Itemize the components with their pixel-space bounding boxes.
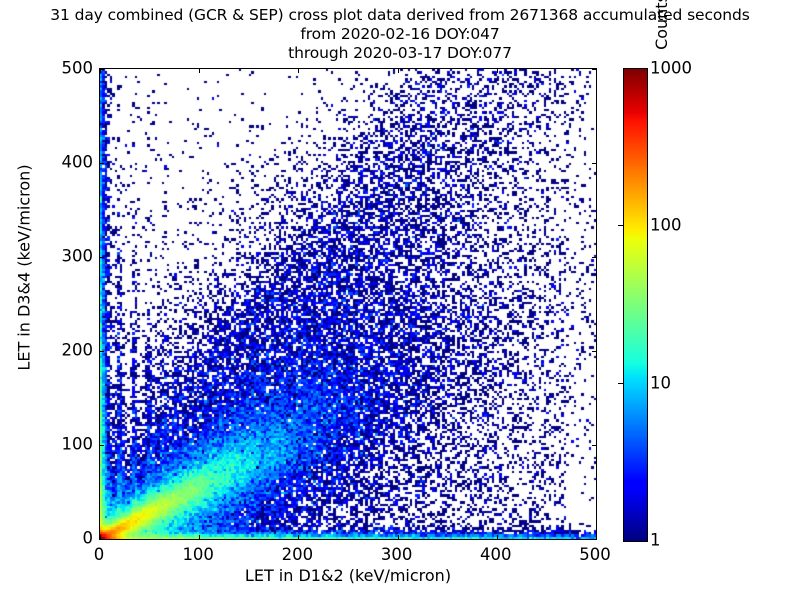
x-tick-label: 100: [163, 545, 233, 564]
x-tick-mark: [497, 69, 498, 73]
y-tick-mark: [592, 351, 596, 352]
y-tick-mark: [100, 163, 104, 164]
y-tick-label: 200: [33, 341, 93, 360]
x-tick-mark: [298, 69, 299, 73]
figure-canvas: 31 day combined (GCR & SEP) cross plot d…: [0, 0, 800, 600]
y-tick-mark: [100, 539, 104, 540]
x-tick-mark: [398, 535, 399, 539]
title-line-1: 31 day combined (GCR & SEP) cross plot d…: [0, 6, 800, 25]
chart-title: 31 day combined (GCR & SEP) cross plot d…: [0, 6, 800, 63]
x-axis-label: LET in D1&2 (keV/micron): [99, 566, 597, 585]
y-tick-mark: [592, 163, 596, 164]
x-tick-mark: [100, 69, 101, 73]
colorbar-gradient: [623, 68, 648, 542]
plot-axes: [99, 68, 597, 540]
y-tick-label: 100: [33, 435, 93, 454]
x-tick-mark: [596, 535, 597, 539]
x-tick-mark: [398, 69, 399, 73]
y-tick-label: 500: [33, 59, 93, 78]
x-tick-mark: [199, 535, 200, 539]
y-tick-mark: [100, 445, 104, 446]
y-tick-mark: [100, 351, 104, 352]
y-tick-label: 300: [33, 247, 93, 266]
x-tick-mark: [596, 69, 597, 73]
x-tick-mark: [497, 535, 498, 539]
x-tick-mark: [298, 535, 299, 539]
x-tick-label: 200: [262, 545, 332, 564]
y-tick-mark: [100, 257, 104, 258]
density-plot-area: [100, 69, 596, 539]
colorbar-label: Counts: [652, 0, 671, 258]
x-tick-label: 500: [560, 545, 630, 564]
y-tick-mark: [592, 257, 596, 258]
x-tick-mark: [100, 535, 101, 539]
title-line-2: from 2020-02-16 DOY:047: [0, 25, 800, 44]
y-axis-label: LET in D3&4 (keV/micron): [15, 32, 34, 504]
x-tick-label: 0: [64, 545, 134, 564]
colorbar-tick-mark: [618, 383, 623, 384]
x-tick-label: 400: [461, 545, 531, 564]
x-tick-mark: [199, 69, 200, 73]
y-tick-mark: [592, 539, 596, 540]
y-tick-mark: [592, 445, 596, 446]
colorbar: [623, 68, 646, 540]
colorbar-tick-label: 10: [650, 373, 671, 392]
colorbar-tick-mark: [618, 225, 623, 226]
x-tick-label: 300: [362, 545, 432, 564]
colorbar-tick-label: 1: [650, 531, 661, 550]
y-tick-label: 400: [33, 153, 93, 172]
